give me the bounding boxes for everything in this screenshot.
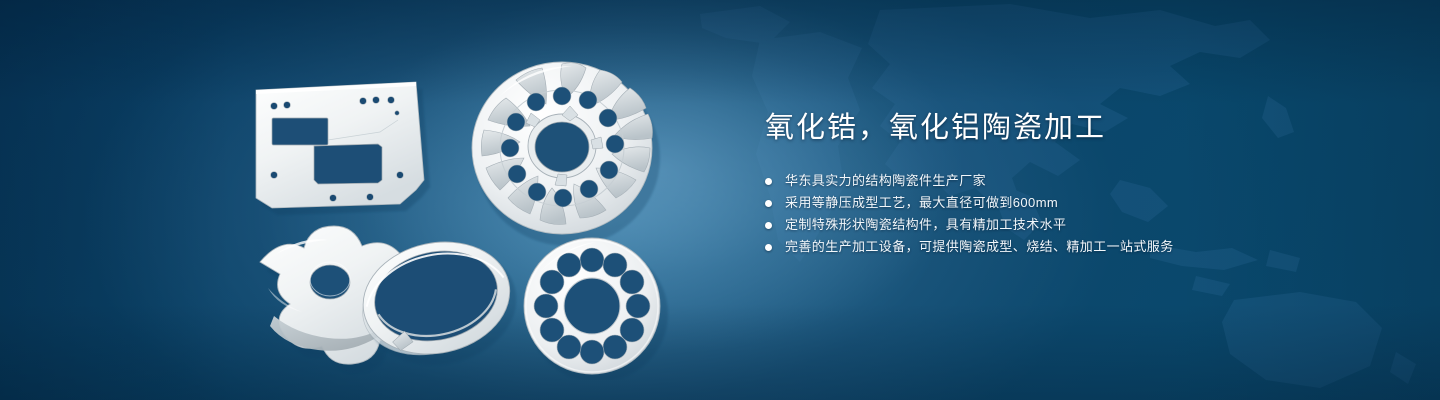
feature-text: 采用等静压成型工艺，最大直径可做到600mm	[785, 192, 1058, 214]
list-item: 定制特殊形状陶瓷结构件，具有精加工技术水平	[765, 214, 1325, 236]
ceramic-plate-part	[256, 82, 430, 215]
feature-text: 华东具实力的结构陶瓷件生产厂家	[785, 170, 986, 192]
banner-copy: 氧化锆，氧化铝陶瓷加工 华东具实力的结构陶瓷件生产厂家 采用等静压成型工艺，最大…	[765, 108, 1325, 258]
ceramic-impeller-part	[472, 62, 660, 246]
product-photo-collage	[230, 40, 710, 380]
list-item: 采用等静压成型工艺，最大直径可做到600mm	[765, 192, 1325, 214]
hero-banner: 氧化锆，氧化铝陶瓷加工 华东具实力的结构陶瓷件生产厂家 采用等静压成型工艺，最大…	[0, 0, 1440, 400]
banner-feature-list: 华东具实力的结构陶瓷件生产厂家 采用等静压成型工艺，最大直径可做到600mm 定…	[765, 170, 1325, 258]
feature-text: 完善的生产加工设备，可提供陶瓷成型、烧结、精加工一站式服务	[785, 236, 1174, 258]
feature-text: 定制特殊形状陶瓷结构件，具有精加工技术水平	[785, 214, 1066, 236]
banner-headline: 氧化锆，氧化铝陶瓷加工	[765, 108, 1325, 148]
bullet-dot-icon	[765, 244, 772, 251]
bullet-dot-icon	[765, 222, 772, 229]
bullet-dot-icon	[765, 200, 772, 207]
bullet-dot-icon	[765, 178, 772, 185]
ceramic-perforated-disc-part	[524, 238, 668, 380]
list-item: 华东具实力的结构陶瓷件生产厂家	[765, 170, 1325, 192]
list-item: 完善的生产加工设备，可提供陶瓷成型、烧结、精加工一站式服务	[765, 236, 1325, 258]
